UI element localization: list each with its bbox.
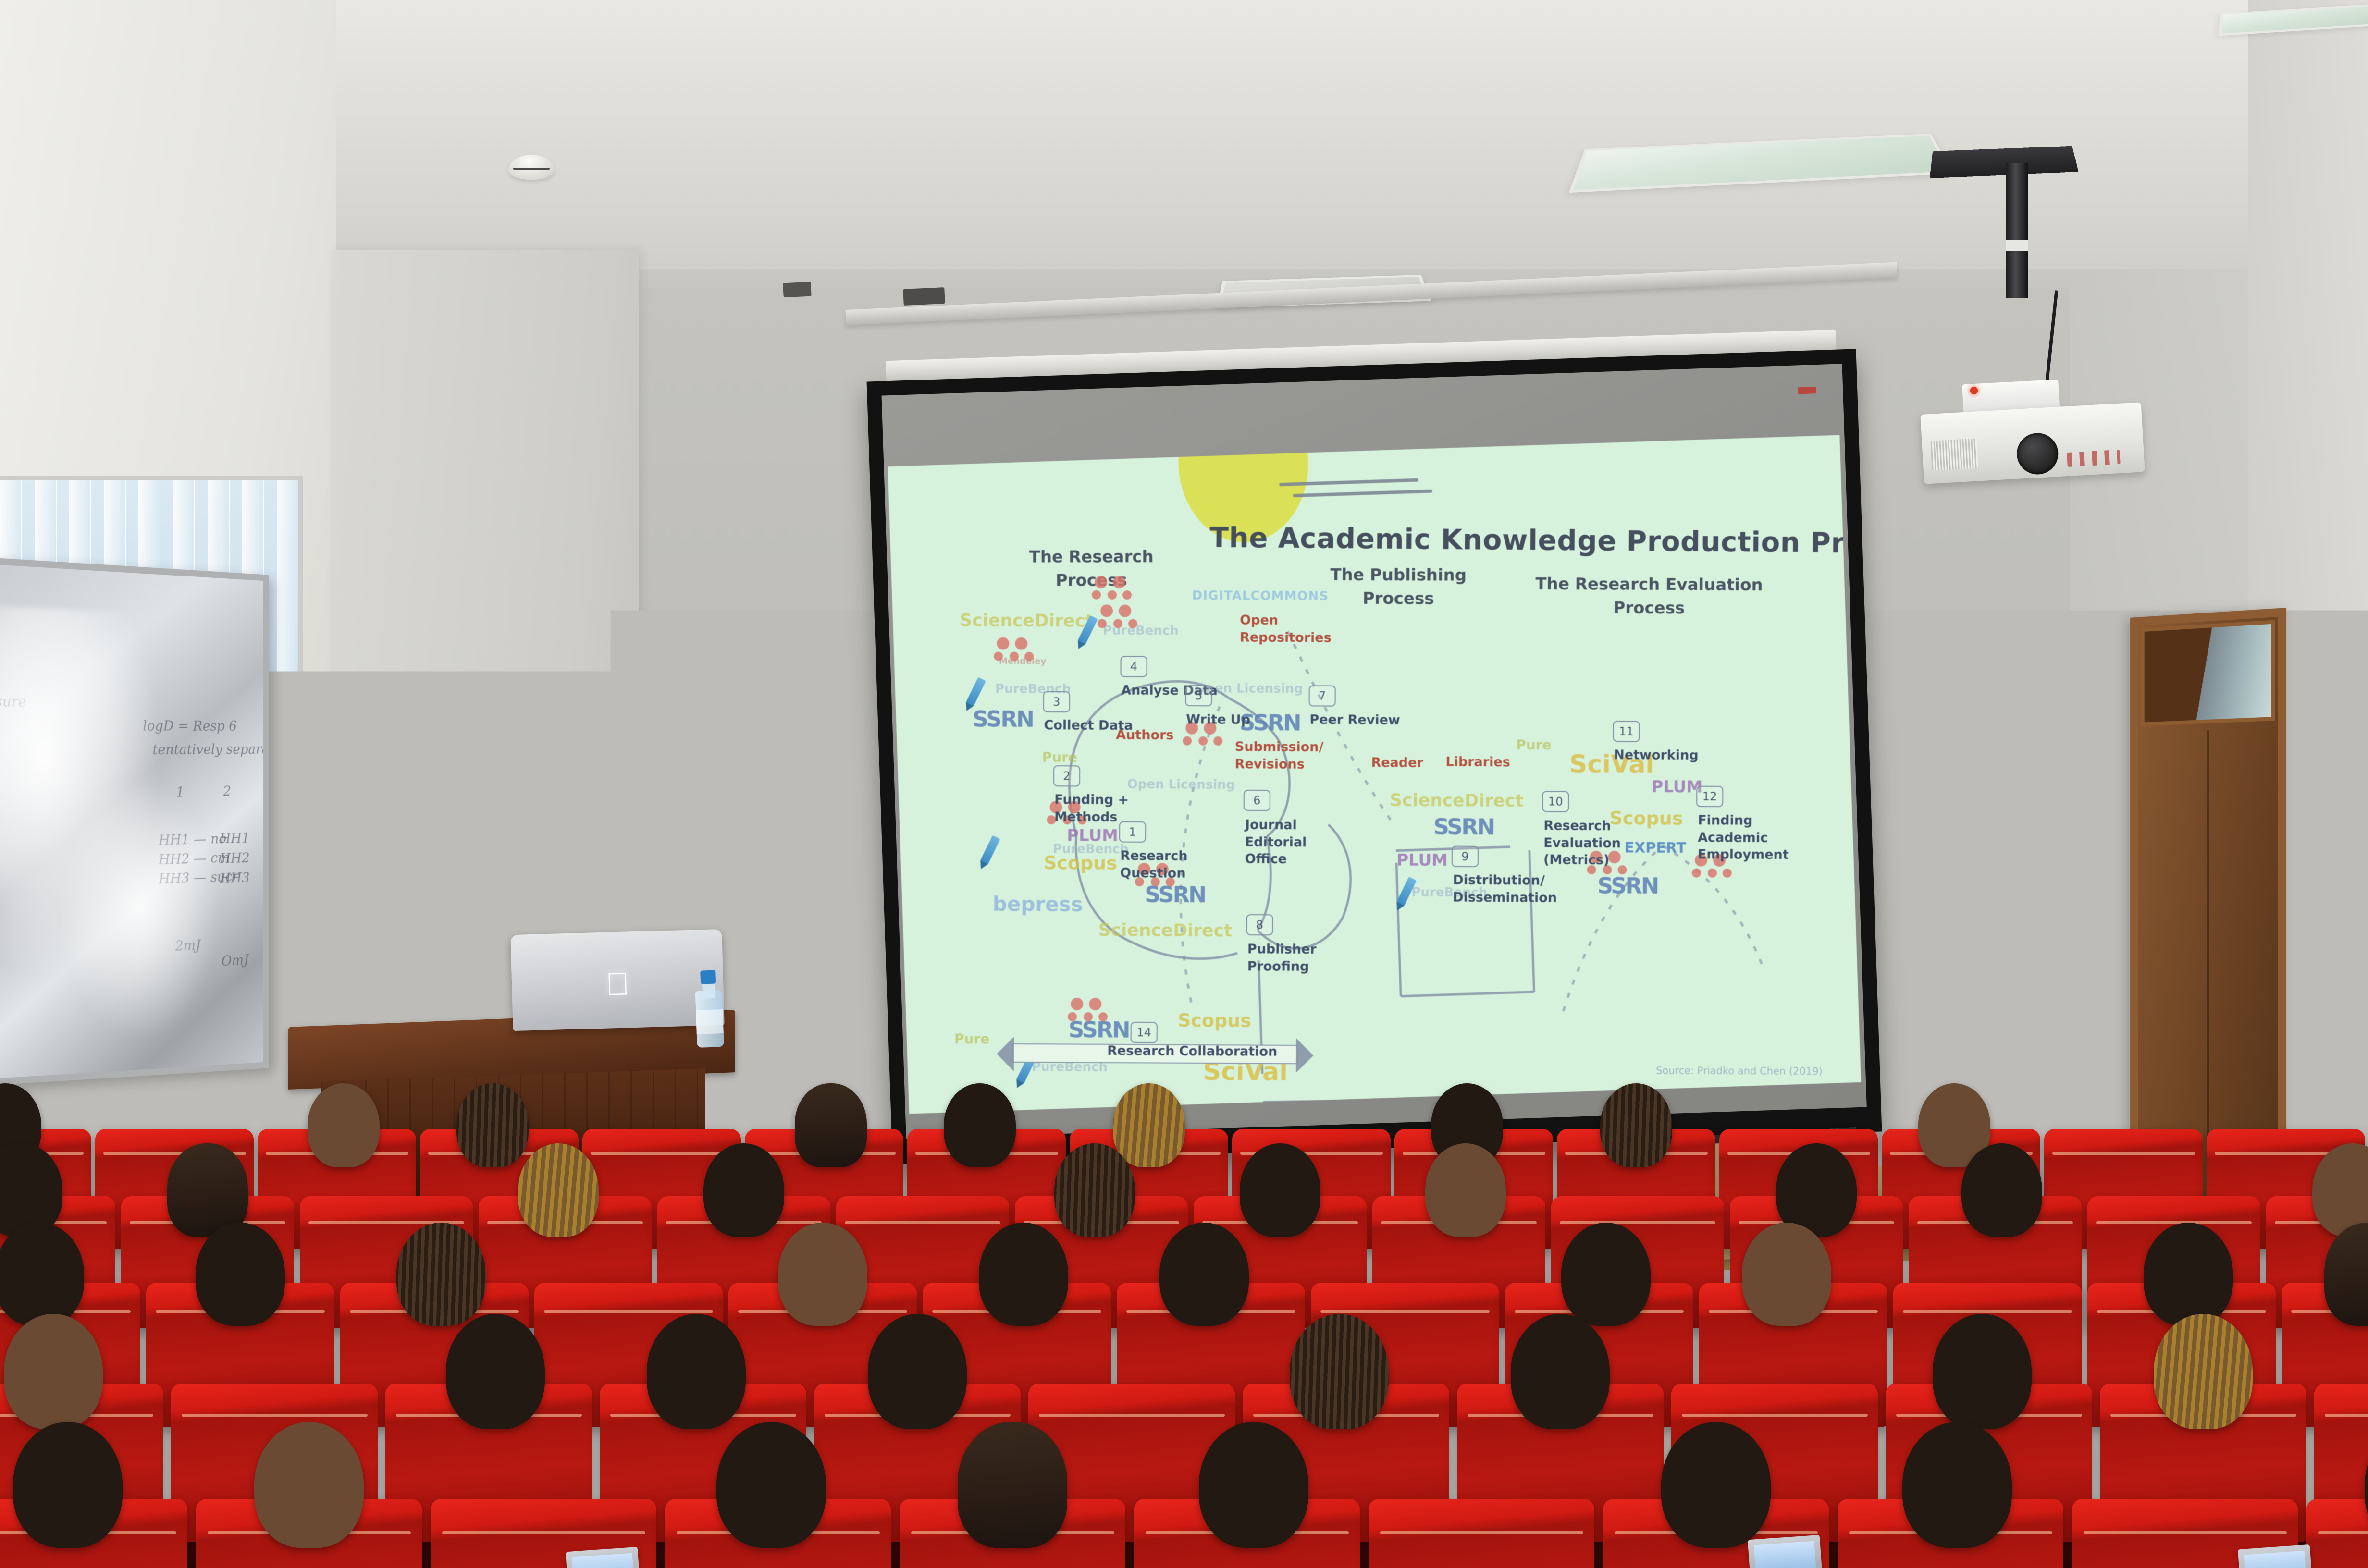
logo-purebench: PureBench	[1053, 842, 1129, 857]
audience-member-head	[518, 1143, 599, 1237]
diagram-step-9: 9	[1451, 846, 1478, 867]
audience-member-head	[958, 1422, 1067, 1548]
audience-member-head	[1902, 1422, 2012, 1548]
eyeglass-lens-left	[489, 850, 525, 877]
audience-member-head	[647, 1314, 746, 1429]
projector-power-led	[1970, 387, 1978, 394]
diagram-step-label-6: JournalEditorialOffice	[1245, 816, 1307, 868]
diagram-step-14: 14	[1130, 1022, 1157, 1043]
eyeglasses-icon	[489, 850, 580, 877]
audience-member-head	[196, 1223, 285, 1326]
logo-ssrn: SSRN	[1433, 813, 1494, 840]
audience-member-head	[13, 1422, 123, 1548]
whiteboard-note: HH1	[220, 830, 250, 847]
audience-member-head	[1742, 1223, 1831, 1326]
research-collaboration-label: Research Collaboration	[1107, 1042, 1277, 1060]
audience-member-head	[1054, 1143, 1135, 1237]
diagram-step-label-11: Networking	[1614, 747, 1699, 764]
audience-member-head	[1961, 1143, 2042, 1237]
diagram-step-label-10: ResearchEvaluation(Metrics)	[1543, 817, 1621, 869]
logo-pure: Pure	[1042, 749, 1077, 765]
diagram-step-10: 10	[1542, 791, 1569, 812]
audience-member-head	[703, 1143, 784, 1237]
logo-sciencedirect: ScienceDirect	[1390, 791, 1524, 811]
audience-member-head	[446, 1314, 545, 1429]
audience-member-head	[396, 1223, 486, 1326]
audience-member-head	[778, 1223, 867, 1326]
diagram-step-label-8: PublisherProofing	[1247, 941, 1316, 975]
audience-member-head	[1511, 1314, 1610, 1429]
diagram-step-6: 6	[1244, 790, 1270, 811]
earring-right	[585, 889, 598, 911]
diagram-step-label-9: Distribution/Dissemination	[1453, 871, 1557, 906]
diagram-step-4: 4	[1120, 656, 1147, 677]
apple-logo-icon: 	[605, 968, 630, 1000]
logo-ssrn: SSRN	[972, 706, 1033, 732]
diagram-connector-paths	[888, 435, 1861, 1114]
diagram-step-2: 2	[1053, 765, 1080, 786]
whiteboard-note: tentatively separate	[152, 741, 269, 758]
mendeley-logo-icon	[1098, 605, 1139, 630]
audience-member-head	[0, 1223, 84, 1326]
audience-member-head	[1600, 1083, 1672, 1167]
diagram-step-label-2: Funding +Methods	[1054, 791, 1129, 826]
logo-open-licensing: Open Licensing	[1127, 777, 1235, 792]
projection-screen: The Academic Knowledge Production Proces…	[867, 349, 1882, 1164]
audience-member-head	[868, 1314, 967, 1429]
logo-plum: PLUM	[1396, 850, 1448, 870]
logo-plum: PLUM	[1651, 777, 1702, 797]
diagram-step-12: 12	[1696, 786, 1723, 807]
screen-brand-mark	[1798, 387, 1816, 394]
logo-digitalcommons: DIGITALCOMMONS	[1192, 588, 1329, 603]
audience-member-head	[1661, 1422, 1771, 1548]
audience-member-head	[308, 1083, 380, 1167]
eyeglass-bridge	[525, 860, 544, 862]
logo-pure: Pure	[954, 1030, 989, 1046]
whiteboard-note: HH2	[220, 850, 250, 867]
diagram-step-7: 7	[1309, 686, 1336, 707]
mendeley-logo-icon	[1068, 998, 1109, 1023]
audience-member-head	[1561, 1223, 1651, 1326]
audience-member-head	[1425, 1143, 1506, 1237]
bottle-cap	[700, 970, 716, 984]
audience-member-head	[1113, 1083, 1185, 1167]
audience-member-head	[944, 1083, 1016, 1167]
audience-member-head	[2144, 1223, 2233, 1326]
diagram-label-authors: Authors	[1116, 727, 1173, 744]
water-bottle[interactable]	[694, 970, 724, 1048]
whiteboard-note: OmJ	[221, 952, 249, 969]
projector-pole-band	[2006, 240, 2028, 251]
diagram-step-5: 5	[1185, 685, 1212, 706]
audience-member-head	[1199, 1422, 1308, 1548]
diagram-label-submission-revisions: Submission/Revisions	[1234, 738, 1323, 773]
logo-bepress: bepress	[993, 892, 1083, 916]
projector-lens-icon	[2016, 432, 2060, 476]
audience-member-head	[795, 1083, 867, 1167]
audience-member-head	[4, 1314, 103, 1429]
auditorium-seat	[2306, 1499, 2368, 1568]
screen-border: The Academic Knowledge Production Proces…	[867, 349, 1882, 1164]
bottle-label	[696, 1009, 724, 1034]
diagram-step-8: 8	[1246, 914, 1273, 935]
lecture-hall-photo: logD = Resp 6tentatively separate12HH1 —…	[0, 0, 2368, 1568]
mendeley-logo-icon	[994, 637, 1035, 662]
door-transom-window	[2141, 620, 2275, 726]
bottle-neck	[702, 982, 715, 999]
audience-member-head	[716, 1422, 826, 1548]
diagram-step-label-12: FindingAcademicEmployment	[1698, 812, 1789, 864]
logo-sciencedirect: ScienceDirect	[1098, 920, 1233, 941]
audience-member-head	[1290, 1314, 1389, 1429]
diagram-step-label-1: ResearchQuestion	[1120, 847, 1188, 882]
audience-member-head	[1240, 1143, 1320, 1237]
mendeley-logo-icon	[1092, 576, 1133, 600]
logo-pure: Pure	[1517, 736, 1552, 752]
auditorium-seat	[1369, 1499, 1594, 1568]
audience-member-head	[2154, 1314, 2253, 1429]
presentation-slide: The Academic Knowledge Production Proces…	[888, 435, 1861, 1114]
logo-ssrn: SSRN	[1597, 873, 1658, 899]
diagram-label-open-repositories: OpenRepositories	[1240, 612, 1332, 647]
diagram-label-reader: Reader	[1371, 754, 1423, 772]
projector-vent-icon	[1930, 439, 1978, 471]
diagram-step-3: 3	[1043, 691, 1070, 712]
presenter-laptop[interactable]: 	[510, 929, 724, 1031]
conduit-junction-box	[783, 282, 811, 298]
audience-member-head	[979, 1223, 1068, 1326]
whiteboard-glare-2	[55, 771, 222, 1050]
logo-expert: EXPERT	[1625, 839, 1687, 857]
audience-member-head	[254, 1422, 364, 1548]
audience-laptop[interactable]	[1748, 1535, 1823, 1568]
diagram-step-11: 11	[1613, 721, 1640, 742]
earring-left	[476, 889, 488, 911]
projector-mount-pole	[2006, 163, 2028, 298]
whiteboard-note: HH3	[220, 870, 250, 887]
conduit-junction-box	[903, 287, 945, 306]
slide-source-citation: Source: Priadko and Chen (2019)	[1656, 1065, 1823, 1077]
audience-member-head	[1159, 1223, 1249, 1326]
eyeglass-lens-right	[544, 850, 580, 877]
audience-member-head	[456, 1083, 529, 1167]
projector-buttons[interactable]	[2067, 450, 2121, 467]
audience-seating	[0, 1115, 2368, 1568]
audience-member-head	[1933, 1314, 2032, 1429]
logo-scopus: Scopus	[1178, 1009, 1251, 1031]
diagram-step-label-5: Write Up	[1186, 711, 1250, 729]
diagram-label-libraries: Libraries	[1445, 753, 1510, 771]
whiteboard: logD = Resp 6tentatively separate12HH1 —…	[0, 557, 269, 1086]
diagram-step-label-7: Peer Review	[1310, 711, 1401, 729]
whiteboard-note: 2	[223, 784, 231, 799]
projector[interactable]	[1920, 402, 2145, 484]
logo-sciencedirect: ScienceDirect	[960, 611, 1094, 631]
